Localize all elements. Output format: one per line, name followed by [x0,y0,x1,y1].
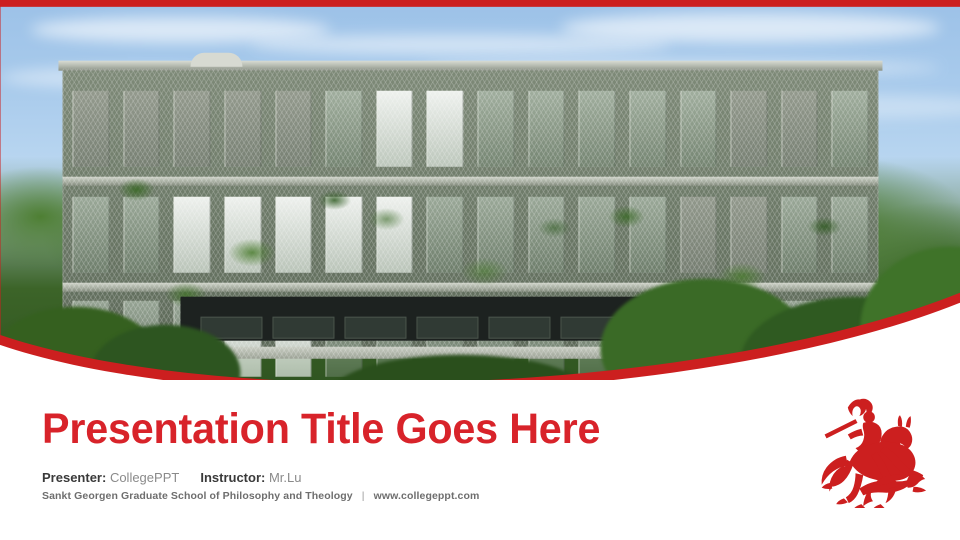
campus-photo [0,0,960,390]
title-slide: Presentation Title Goes Here Presenter: … [0,0,960,540]
shrub-row [0,307,960,387]
byline: Presenter: CollegePPT Instructor: Mr.Lu [42,470,301,486]
instructor-value: Mr.Lu [269,470,302,485]
saint-george-and-dragon-logo [812,392,930,508]
presenter-value: CollegePPT [110,470,179,485]
school-name: Sankt Georgen Graduate School of Philoso… [42,490,353,502]
website-url[interactable]: www.collegeppt.com [374,490,480,502]
affiliation-line: Sankt Georgen Graduate School of Philoso… [42,490,479,502]
affiliation-separator: | [356,490,371,502]
presenter-label: Presenter: [42,470,106,485]
hero-image-region [0,0,960,390]
cloud [250,35,670,55]
cloud [560,13,940,43]
roof-dome [190,53,242,67]
instructor-label: Instructor: [200,470,265,485]
page-title: Presentation Title Goes Here [42,408,600,451]
